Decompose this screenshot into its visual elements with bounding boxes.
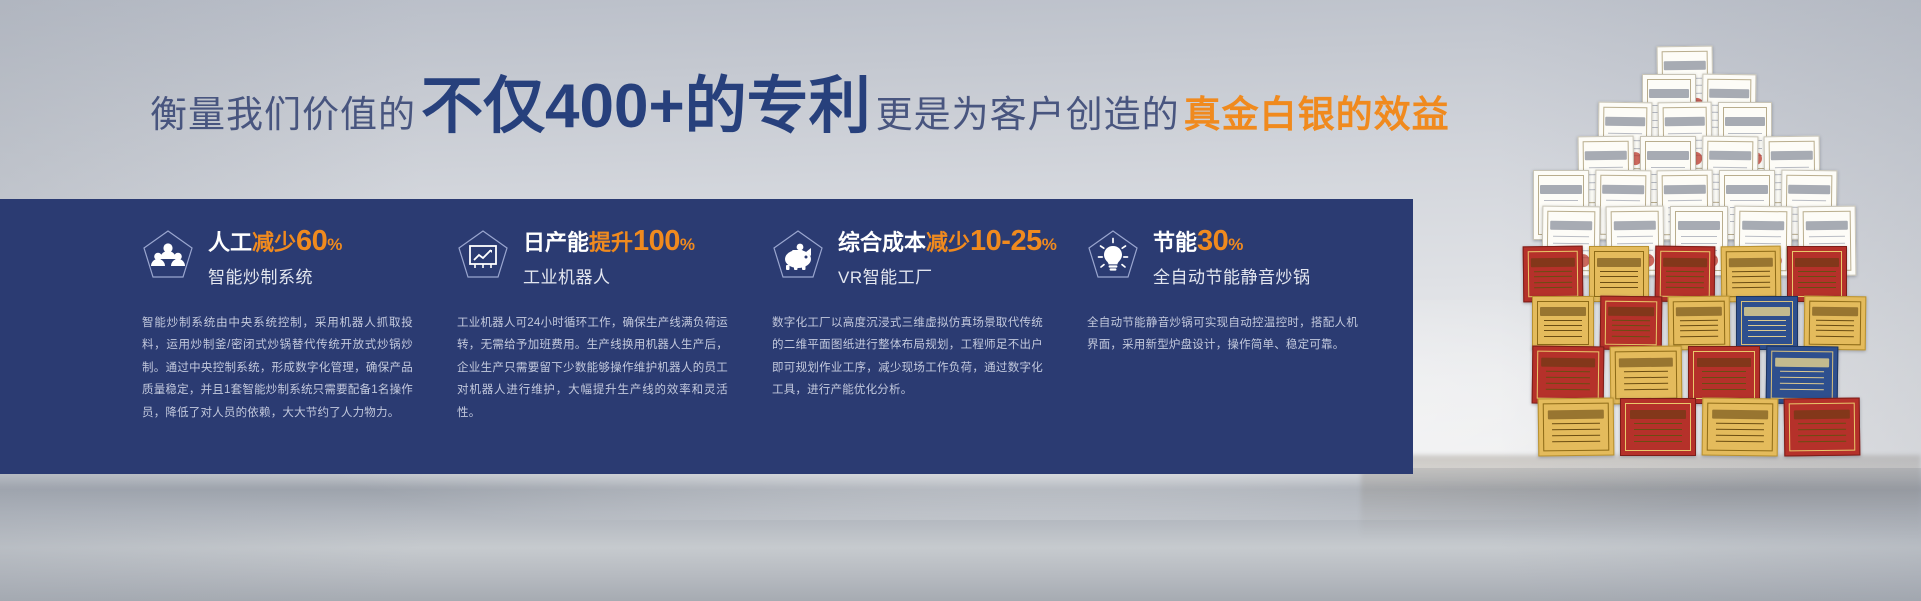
feature-value: 100 bbox=[633, 225, 680, 257]
page-headline: 衡量我们价值的 不仅400+的专利 更是为客户创造的 真金白银的效益 bbox=[150, 78, 1450, 138]
feature-body: 全自动节能静音炒锅可实现自动控温控时，搭配人机界面，采用新型炉盘设计，操作简单、… bbox=[1087, 312, 1358, 357]
feature-title-white: 日产能 bbox=[523, 230, 589, 255]
certificate-text-line bbox=[1730, 200, 1765, 201]
certificate-title-bar bbox=[1613, 220, 1656, 230]
certificate-text-line bbox=[1634, 435, 1681, 436]
certificate-item bbox=[1523, 246, 1584, 303]
certificate-item bbox=[1688, 346, 1760, 404]
certificate-text-line bbox=[1544, 325, 1582, 326]
feature-value: 60 bbox=[296, 225, 327, 257]
certificate-title-bar bbox=[1603, 184, 1644, 194]
certificate-text-line bbox=[1702, 383, 1747, 384]
certificate-title-bar bbox=[1771, 151, 1812, 161]
certificate-title-bar bbox=[1710, 151, 1751, 161]
certificate-text-line bbox=[1600, 276, 1637, 277]
certificate-item bbox=[1538, 398, 1615, 457]
certificate-title-bar bbox=[1665, 117, 1705, 126]
feature-title: 综合成本减少10-25% bbox=[838, 227, 1057, 256]
certificate-title-bar bbox=[1630, 410, 1686, 419]
certificate-title-bar bbox=[1548, 410, 1604, 420]
feature-column-1: 人工减少60% 智能炒制系统 智能炒制系统由中央系统控制，采用机器人抓取投料，运… bbox=[142, 199, 457, 474]
feature-title: 节能30% bbox=[1153, 227, 1311, 256]
certificate-title-bar bbox=[1540, 185, 1581, 194]
certificate-title-bar bbox=[1678, 221, 1721, 230]
feature-titles: 人工减少60% 智能炒制系统 bbox=[208, 227, 342, 288]
feature-header: 综合成本减少10-25% VR智能工厂 bbox=[772, 199, 1043, 291]
feature-title-orange: 减少 bbox=[252, 230, 296, 255]
certificate-title-bar bbox=[1775, 358, 1828, 368]
certificate-text-line bbox=[1702, 377, 1747, 378]
certificate-title-bar bbox=[1647, 151, 1688, 160]
lightbulb-icon bbox=[1087, 229, 1139, 285]
certificate-item bbox=[1784, 398, 1861, 457]
certificate-text-line bbox=[1600, 271, 1637, 272]
feature-title-white: 综合成本 bbox=[838, 230, 926, 255]
certificate-text-line bbox=[1681, 236, 1717, 237]
certificate-item bbox=[1532, 296, 1594, 350]
banner-stage: 衡量我们价值的 不仅400+的专利 更是为客户创造的 真金白银的效益 bbox=[0, 0, 1921, 601]
feature-subtitle: 智能炒制系统 bbox=[208, 263, 342, 288]
certificate-title-bar bbox=[1663, 258, 1707, 268]
features-panel: 人工减少60% 智能炒制系统 智能炒制系统由中央系统控制，采用机器人抓取投料，运… bbox=[0, 199, 1413, 474]
feature-value: 10-25 bbox=[970, 225, 1042, 257]
feature-header: 节能30% 全自动节能静音炒锅 bbox=[1087, 199, 1358, 291]
feature-title-white: 节能 bbox=[1153, 230, 1197, 255]
feature-column-2: 日产能提升100% 工业机器人 工业机器人可24小时循环工作，确保生产线满负荷运… bbox=[457, 199, 772, 474]
certificate-title-bar bbox=[1619, 358, 1672, 368]
feature-subtitle: 全自动节能静音炒锅 bbox=[1153, 263, 1311, 288]
certificate-item bbox=[1668, 296, 1731, 351]
certificate-item bbox=[1600, 296, 1663, 351]
certificate-title-bar bbox=[1664, 184, 1705, 194]
certificate-text-line bbox=[1651, 167, 1686, 168]
feature-unit: % bbox=[1042, 235, 1057, 254]
certificate-title-bar bbox=[1649, 89, 1689, 98]
certificate-title-bar bbox=[1805, 220, 1848, 230]
certificate-title-bar bbox=[1794, 410, 1850, 420]
feature-title-white: 人工 bbox=[208, 230, 252, 255]
certificate-title-bar bbox=[1742, 220, 1785, 230]
feature-header: 日产能提升100% 工业机器人 bbox=[457, 199, 728, 291]
certificate-item bbox=[1655, 246, 1716, 303]
piggy-bank-icon bbox=[772, 229, 824, 285]
certificate-text-line bbox=[1600, 287, 1637, 288]
certificate-item bbox=[1766, 346, 1839, 405]
certificate-item bbox=[1804, 296, 1867, 351]
certificate-text-line bbox=[1798, 282, 1835, 283]
certificate-title-bar bbox=[1531, 258, 1575, 268]
feature-body: 智能炒制系统由中央系统控制，采用机器人抓取投料，运用炒制釜/密闭式炒锅替代传统开… bbox=[142, 312, 413, 424]
certificate-item bbox=[1589, 246, 1649, 302]
certificate-title-bar bbox=[1725, 117, 1765, 126]
feature-unit: % bbox=[1228, 235, 1243, 254]
chart-monitor-icon bbox=[457, 229, 509, 285]
feature-body: 工业机器人可24小时循环工作，确保生产线满负荷运转，无需给予加班费用。生产线换用… bbox=[457, 312, 728, 424]
certificate-title-bar bbox=[1744, 307, 1790, 316]
certificate-title-bar bbox=[1550, 220, 1593, 230]
certificate-title-bar bbox=[1597, 258, 1641, 267]
certificate-title-bar bbox=[1664, 61, 1705, 71]
feature-column-4: 节能30% 全自动节能静音炒锅 全自动节能静音炒锅可实现自动控温控时，搭配人机界… bbox=[1087, 199, 1402, 474]
certificate-text-line bbox=[1600, 282, 1637, 283]
certificate-title-bar bbox=[1795, 258, 1839, 267]
headline-mid: 更是为客户创造的 bbox=[876, 84, 1180, 138]
certificate-text-line bbox=[1748, 320, 1786, 321]
certificate-title-bar bbox=[1605, 117, 1645, 126]
feature-value: 30 bbox=[1197, 225, 1228, 257]
certificate-text-line bbox=[1634, 423, 1681, 424]
certificate-text-line bbox=[1798, 276, 1835, 277]
feature-titles: 节能30% 全自动节能静音炒锅 bbox=[1153, 227, 1311, 288]
certificate-text-line bbox=[1634, 441, 1681, 442]
certificate-text-line bbox=[1798, 287, 1835, 288]
certificate-text-line bbox=[1748, 330, 1786, 331]
certificate-text-line bbox=[1748, 336, 1786, 337]
certificate-text-line bbox=[1544, 330, 1582, 331]
headline-strong: 不仅400+的专利 bbox=[421, 78, 871, 137]
certificate-item bbox=[1532, 346, 1605, 405]
feature-titles: 日产能提升100% 工业机器人 bbox=[523, 227, 695, 288]
certificate-title-bar bbox=[1676, 307, 1722, 317]
certificate-title-bar bbox=[1608, 307, 1654, 317]
feature-header: 人工减少60% 智能炒制系统 bbox=[142, 199, 413, 291]
team-people-icon bbox=[142, 229, 194, 285]
certificate-item bbox=[1620, 398, 1696, 456]
feature-unit: % bbox=[327, 235, 342, 254]
certificate-text-line bbox=[1798, 271, 1835, 272]
feature-title: 日产能提升100% bbox=[523, 227, 695, 256]
certificate-text-line bbox=[1544, 200, 1579, 201]
certificate-text-line bbox=[1634, 429, 1681, 430]
certificate-title-bar bbox=[1585, 151, 1626, 161]
certificate-title-bar bbox=[1712, 410, 1768, 420]
certificate-title-bar bbox=[1697, 358, 1750, 367]
certificate-title-bar bbox=[1540, 307, 1586, 316]
feature-subtitle: 工业机器人 bbox=[523, 263, 695, 288]
feature-title-orange: 提升 bbox=[589, 230, 633, 255]
certificate-title-bar bbox=[1726, 185, 1767, 194]
certificate-text-line bbox=[1544, 336, 1582, 337]
certificate-title-bar bbox=[1709, 89, 1749, 98]
certificate-text-line bbox=[1544, 320, 1582, 321]
feature-title-orange: 减少 bbox=[926, 230, 970, 255]
features-columns: 人工减少60% 智能炒制系统 智能炒制系统由中央系统控制，采用机器人抓取投料，运… bbox=[142, 199, 1402, 474]
certificate-text-line bbox=[1681, 243, 1717, 244]
feature-unit: % bbox=[680, 235, 695, 254]
certificate-title-bar bbox=[1812, 307, 1858, 317]
certificate-title-bar bbox=[1789, 184, 1830, 194]
certificate-item bbox=[1610, 346, 1683, 405]
headline-lead: 衡量我们价值的 bbox=[150, 84, 416, 138]
feature-body: 数字化工厂以高度沉浸式三维虚拟仿真场景取代传统的二维平面图纸进行整体布局规划，工… bbox=[772, 312, 1043, 402]
certificate-item bbox=[1787, 246, 1847, 302]
certificate-item bbox=[1736, 296, 1798, 350]
certificate-text-line bbox=[1728, 133, 1761, 134]
feature-title: 人工减少60% bbox=[208, 227, 342, 256]
certificate-text-line bbox=[1702, 371, 1747, 372]
headline-accent: 真金白银的效益 bbox=[1184, 84, 1450, 138]
certificate-text-line bbox=[1748, 325, 1786, 326]
certificate-title-bar bbox=[1541, 358, 1594, 368]
feature-titles: 综合成本减少10-25% VR智能工厂 bbox=[838, 227, 1057, 288]
certificate-title-bar bbox=[1729, 258, 1773, 268]
certificate-item bbox=[1702, 398, 1779, 457]
feature-subtitle: VR智能工厂 bbox=[838, 263, 1057, 288]
certificate-item bbox=[1721, 246, 1782, 303]
feature-column-3: 综合成本减少10-25% VR智能工厂 数字化工厂以高度沉浸式三维虚拟仿真场景取… bbox=[772, 199, 1087, 474]
certificate-text-line bbox=[1702, 389, 1747, 390]
